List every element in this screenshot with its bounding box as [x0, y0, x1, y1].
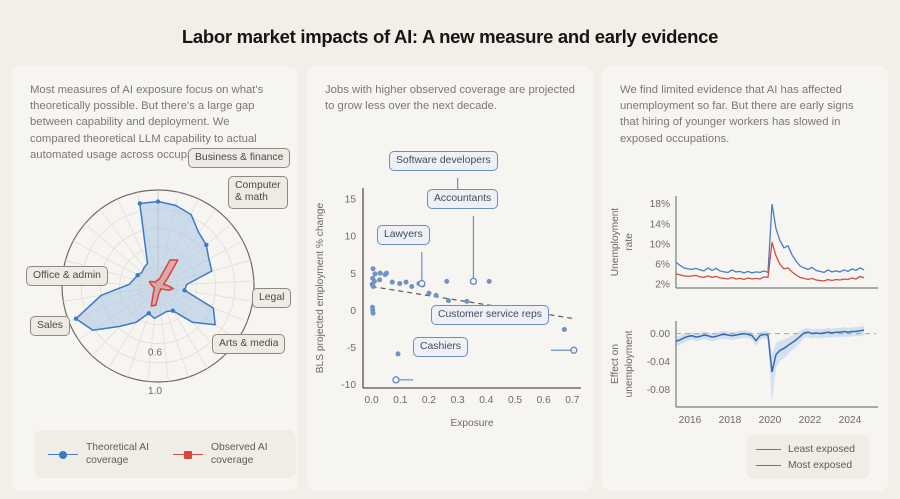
radar-panel: Most measures of AI exposure focus on wh… [12, 66, 298, 491]
scatter-point-label: Cashiers [413, 337, 468, 357]
scatter-point-label: Customer service reps [431, 305, 549, 325]
unemployment-y-tick: 2% [655, 280, 670, 291]
scatter-x-tick: 0.6 [537, 395, 551, 406]
radar-axis-label: Computer & math [228, 176, 288, 209]
effect-y-axis-label: Effect on [610, 344, 621, 384]
scatter-x-tick: 0.3 [451, 395, 465, 406]
unemployment-y-tick: 14% [650, 219, 670, 230]
unemployment-y-axis-label: rate [624, 233, 635, 251]
scatter-point [444, 279, 449, 284]
scatter-point [446, 298, 451, 303]
unemployment-y-tick: 6% [655, 259, 670, 270]
scatter-point [409, 284, 414, 289]
radar-radial-tick: 1.0 [148, 386, 162, 397]
scatter-point [395, 351, 400, 356]
scatter-panel-description: Jobs with higher observed coverage are p… [307, 66, 593, 114]
effect-x-tick: 2018 [719, 415, 742, 426]
legend-label-observed: Observed AIcoverage [211, 441, 268, 467]
scatter-point [378, 271, 383, 276]
legend-item-observed: Observed AIcoverage [173, 441, 268, 467]
effect-x-tick: 2016 [679, 415, 702, 426]
panels-container: Most measures of AI exposure focus on wh… [0, 66, 900, 491]
scatter-point [404, 280, 409, 285]
effect-x-tick: 2020 [759, 415, 782, 426]
scatter-point [562, 327, 567, 332]
radar-axis-label: Arts & media [212, 334, 285, 354]
effect-y-tick: -0.08 [647, 385, 671, 396]
scatter-point [384, 271, 389, 276]
unemployment-y-tick: 10% [650, 239, 670, 250]
legend-line-most-exposed [756, 465, 781, 466]
circle-marker-icon [59, 451, 67, 459]
scatter-point [371, 311, 376, 316]
scatter-x-tick: 0.2 [422, 395, 436, 406]
unemployment-y-axis-label: Unemployment [610, 208, 621, 277]
scatter-y-tick: -5 [347, 343, 356, 354]
scatter-x-tick: 0.5 [508, 395, 522, 406]
radar-axis-label: Business & finance [188, 148, 290, 168]
effect-y-tick: 0.00 [650, 329, 670, 340]
square-marker-icon [184, 451, 192, 459]
scatter-panel: Jobs with higher observed coverage are p… [307, 66, 593, 491]
effect-y-axis-label: unemployment [624, 330, 635, 397]
radar-axis-label: Sales [30, 316, 70, 336]
unemployment-rate-chart: 18%14%10%6%2%Unemploymentrate [602, 184, 888, 309]
unemployment-y-tick: 18% [650, 199, 670, 210]
scatter-y-tick: 15 [345, 195, 357, 206]
page-title: Labor market impacts of AI: A new measur… [0, 0, 900, 66]
legend-line-least-exposed [756, 449, 781, 450]
scatter-point [371, 284, 376, 289]
scatter-labeled-point [470, 278, 476, 284]
scatter-point [434, 293, 439, 298]
scatter-x-tick: 0.1 [393, 395, 407, 406]
scatter-y-tick: 10 [345, 232, 357, 243]
scatter-labeled-point [571, 347, 577, 353]
legend-item-most-exposed: Most exposed [756, 459, 852, 472]
effect-x-tick: 2022 [799, 415, 822, 426]
scatter-labeled-point [419, 281, 425, 287]
scatter-y-tick: 0 [350, 306, 356, 317]
radar-axis-label: Legal [252, 288, 291, 308]
scatter-point [371, 266, 376, 271]
scatter-point [377, 277, 382, 282]
scatter-point [487, 279, 492, 284]
scatter-x-tick: 0.7 [565, 395, 579, 406]
legend-label-most-exposed: Most exposed [788, 459, 852, 472]
scatter-point-label: Lawyers [377, 225, 430, 245]
legend-line-red [173, 454, 203, 455]
legend-item-theoretical: Theoretical AIcoverage [48, 441, 149, 467]
effect-y-tick: -0.04 [647, 357, 671, 368]
radar-legend: Theoretical AIcoverage Observed AIcovera… [34, 430, 296, 478]
scatter-x-tick: 0.4 [479, 395, 493, 406]
scatter-point [373, 271, 378, 276]
scatter-x-tick: 0.0 [365, 395, 379, 406]
radar-axis-label: Office & admin [26, 266, 108, 286]
legend-label-theoretical: Theoretical AIcoverage [86, 441, 149, 467]
scatter-y-tick: 5 [350, 269, 356, 280]
timeseries-legend: Least exposed Most exposed [746, 435, 870, 479]
scatter-point [426, 291, 431, 296]
scatter-labeled-point [393, 377, 399, 383]
scatter-point [464, 299, 469, 304]
scatter-y-tick: -10 [341, 380, 356, 391]
scatter-point [397, 281, 402, 286]
scatter-point-label: Software developers [389, 151, 498, 171]
legend-label-least-exposed: Least exposed [788, 443, 855, 456]
scatter-point-label: Accountants [427, 189, 498, 209]
timeseries-panel-description: We find limited evidence that AI has aff… [602, 66, 888, 147]
scatter-point [390, 280, 395, 285]
effect-on-unemployment-chart: 0.00-0.04-0.0820162018202020222024Effect… [602, 309, 888, 444]
legend-item-least-exposed: Least exposed [756, 443, 855, 456]
timeseries-panel: We find limited evidence that AI has aff… [602, 66, 888, 491]
scatter-x-axis-label: Exposure [450, 418, 493, 429]
effect-x-tick: 2024 [839, 415, 862, 426]
legend-line-blue [48, 454, 78, 455]
radar-radial-tick: 0.6 [148, 348, 162, 359]
scatter-y-axis-label: BLS projected employment % change [315, 202, 326, 373]
